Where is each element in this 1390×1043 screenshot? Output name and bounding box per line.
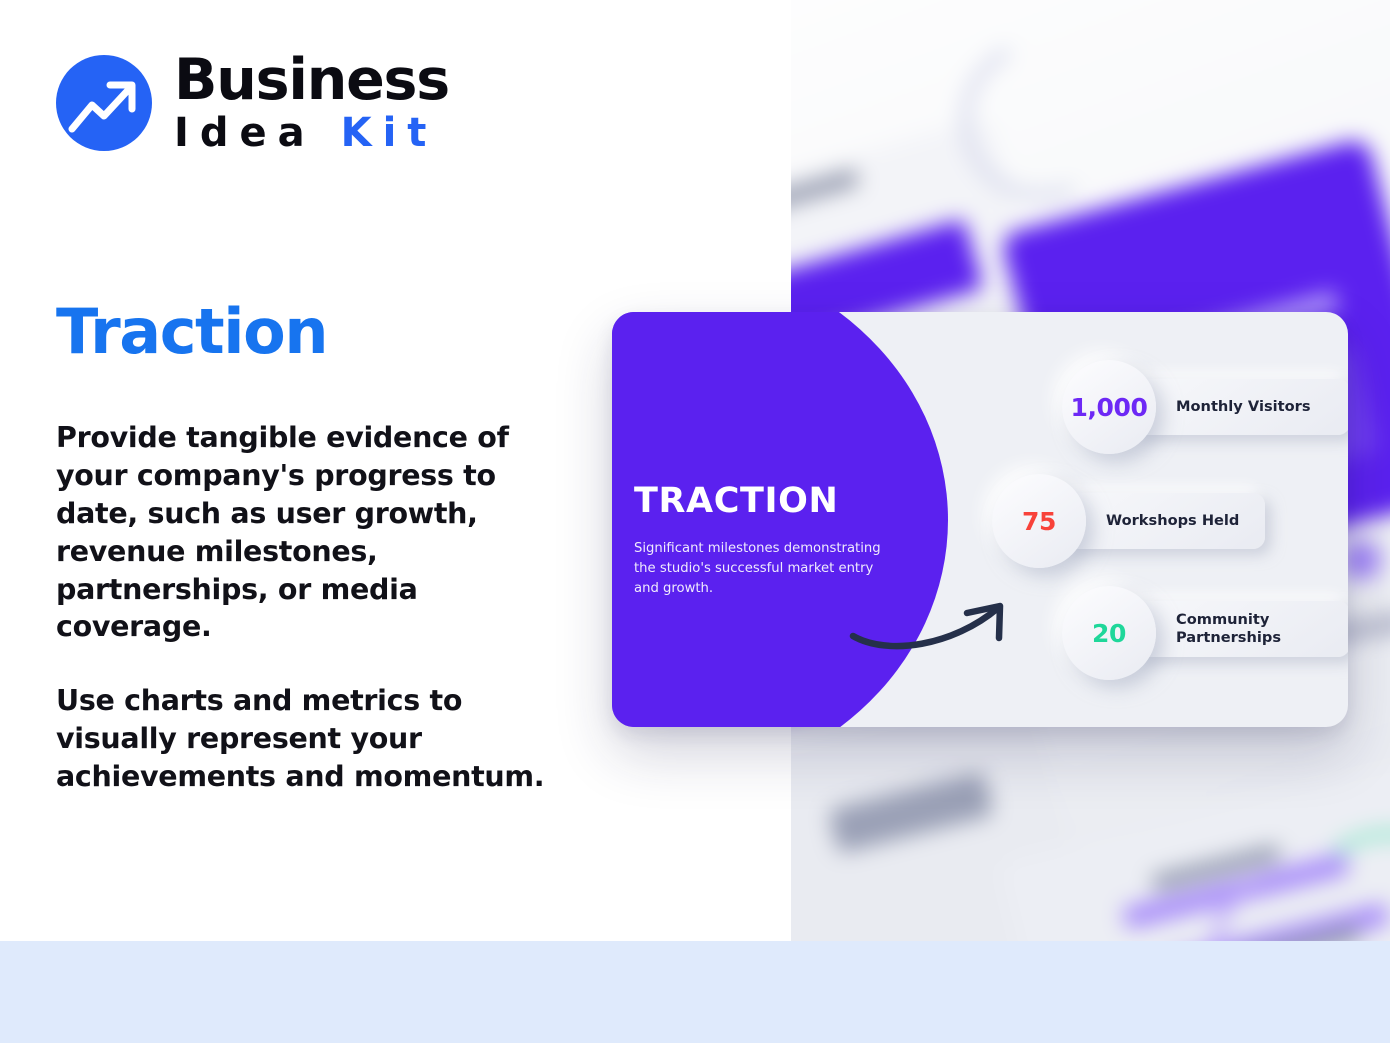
metric-label: Monthly Visitors xyxy=(1176,398,1311,416)
metric-pill: Monthly Visitors xyxy=(1130,379,1348,435)
brand-line-1: Business xyxy=(174,52,449,109)
description-paragraph-2: Use charts and metrics to visually repre… xyxy=(56,682,566,796)
metric-bubble: 1,000 xyxy=(1062,360,1156,454)
metric-value: 1,000 xyxy=(1070,393,1147,422)
page-description: Provide tangible evidence of your compan… xyxy=(56,419,566,796)
metric-pill: Community Partnerships xyxy=(1130,601,1348,657)
metric-bubble: 20 xyxy=(1062,586,1156,680)
brand-line-2-dark: Idea xyxy=(174,110,316,156)
traction-slide-card[interactable]: TRACTION Significant milestones demonstr… xyxy=(612,312,1348,727)
brand-wordmark: Business Idea Kit xyxy=(174,52,449,153)
metric-value: 75 xyxy=(1022,507,1056,536)
description-paragraph-1: Provide tangible evidence of your compan… xyxy=(56,419,566,646)
metric-label: Community Partnerships xyxy=(1176,611,1281,647)
metric-value: 20 xyxy=(1092,619,1126,648)
metric-bubble: 75 xyxy=(992,474,1086,568)
page-title: Traction xyxy=(56,295,327,368)
metrics-list: Monthly Visitors 1,000 Workshops Held 75… xyxy=(612,312,1348,727)
slide-preview-stage: Business Idea Kit Traction Provide tangi… xyxy=(0,0,1390,1043)
brand-logo: Business Idea Kit xyxy=(56,52,449,153)
bottom-accent-band xyxy=(0,941,1390,1043)
brand-line-2: Idea Kit xyxy=(174,113,449,153)
metric-label: Workshops Held xyxy=(1106,512,1239,530)
growth-arrow-chart-icon xyxy=(56,55,152,151)
metric-pill: Workshops Held xyxy=(1060,493,1265,549)
brand-line-2-accent: Kit xyxy=(341,110,438,156)
